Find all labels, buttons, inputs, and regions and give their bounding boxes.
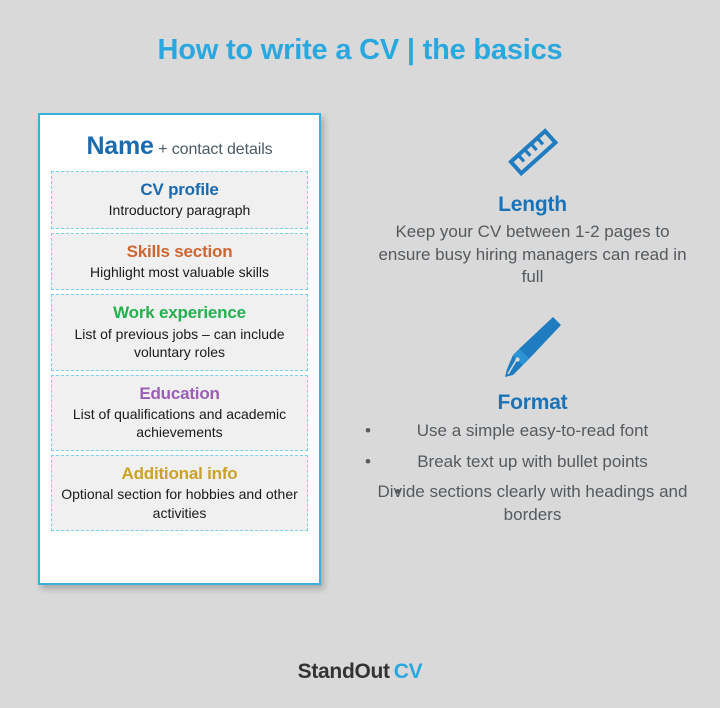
cv-name-heading: Name [86, 132, 153, 160]
cv-section-description: Optional section for hobbies and other a… [58, 485, 301, 522]
cv-section-description: List of qualifications and academic achi… [58, 405, 301, 442]
tip-title-length: Length [355, 193, 710, 217]
format-bullet-text: Use a simple easy-to-read font [417, 421, 649, 440]
cv-section-work-experience: Work experience List of previous jobs – … [51, 294, 308, 370]
ruler-icon [355, 113, 710, 191]
format-bullet-list: • Use a simple easy-to-read font • Break… [355, 420, 710, 527]
tip-title-format: Format [355, 391, 710, 415]
cv-section-description: Highlight most valuable skills [58, 263, 301, 281]
tip-body-length: Keep your CV between 1-2 pages to ensure… [355, 221, 710, 289]
format-bullet-text: Break text up with bullet points [417, 452, 648, 471]
cv-name-line: Name + contact details [51, 125, 308, 171]
page-title: How to write a CV | the basics [0, 34, 720, 67]
brand-logo-cv: CV [394, 660, 423, 683]
cv-section-education: Education List of qualifications and aca… [51, 375, 308, 451]
tip-length: Length Keep your CV between 1-2 pages to… [355, 113, 710, 289]
brand-logo: StandOutCV [0, 660, 720, 684]
cv-section-skills: Skills section Highlight most valuable s… [51, 233, 308, 291]
bullet-dot-icon: • [365, 451, 371, 474]
bullet-dot-icon: • [365, 420, 371, 443]
cv-section-title: Education [58, 383, 301, 404]
format-bullet-item: • Divide sections clearly with headings … [355, 481, 710, 527]
cv-structure-card: Name + contact details CV profile Introd… [38, 113, 321, 585]
cv-section-additional-info: Additional info Optional section for hob… [51, 455, 308, 531]
format-bullet-text: Divide sections clearly with headings an… [378, 482, 688, 524]
tip-format: Format • Use a simple easy-to-read font … [355, 311, 710, 527]
cv-section-title: Additional info [58, 463, 301, 484]
format-bullet-item: • Use a simple easy-to-read font [355, 420, 710, 443]
cv-section-description: List of previous jobs – can include volu… [58, 325, 301, 362]
cv-section-title: Skills section [58, 241, 301, 262]
cv-section-title: Work experience [58, 302, 301, 323]
format-bullet-item: • Break text up with bullet points [355, 451, 710, 474]
cv-section-description: Introductory paragraph [58, 201, 301, 219]
cv-section-profile: CV profile Introductory paragraph [51, 171, 308, 229]
bullet-dot-icon: • [395, 481, 401, 504]
tips-column: Length Keep your CV between 1-2 pages to… [355, 113, 710, 535]
cv-section-title: CV profile [58, 179, 301, 200]
fountain-pen-nib-icon [355, 311, 710, 389]
brand-logo-standout: StandOut [298, 660, 390, 683]
cv-contact-details-label: + contact details [158, 141, 272, 158]
